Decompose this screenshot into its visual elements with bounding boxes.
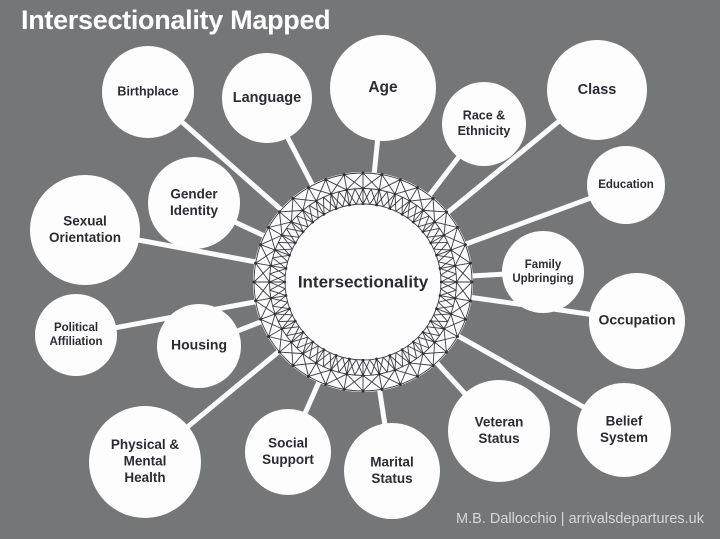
spoke-gender-identity [234, 222, 265, 237]
node-label-occupation: Occupation [598, 312, 675, 328]
node-housing[interactable]: Housing [157, 304, 241, 388]
node-education[interactable]: Education [587, 146, 665, 224]
attribution-footer: M.B. Dallocchio | arrivalsdepartures.uk [456, 511, 704, 527]
node-label-language: Language [233, 90, 301, 106]
node-label-belief-system: Belief [606, 413, 643, 428]
node-label-physical-mental-health: Mental [124, 454, 167, 469]
hub-layer: Intersectionality [253, 172, 474, 393]
node-circle-political-affiliation[interactable] [35, 294, 117, 376]
node-label-family-upbringing: Upbringing [512, 273, 573, 285]
node-label-class: Class [578, 82, 617, 98]
node-label-birthplace: Birthplace [117, 84, 178, 98]
node-political-affiliation[interactable]: PoliticalAffiliation [35, 294, 117, 376]
node-race-ethnicity[interactable]: Race &Ethnicity [442, 82, 526, 166]
node-label-social-support: Support [262, 452, 314, 467]
node-label-veteran-status: Status [478, 431, 519, 446]
node-label-belief-system: System [600, 430, 648, 445]
node-sexual-orientation[interactable]: SexualOrientation [30, 175, 140, 285]
node-label-political-affiliation: Affiliation [49, 336, 102, 348]
spoke-housing [236, 321, 262, 331]
node-label-veteran-status: Veteran [475, 414, 524, 429]
spoke-language [287, 136, 313, 186]
node-age[interactable]: Age [330, 35, 436, 141]
node-label-marital-status: Marital [370, 454, 414, 469]
node-label-race-ethnicity: Ethnicity [458, 124, 511, 138]
node-label-family-upbringing: Family [525, 259, 562, 271]
node-physical-mental-health[interactable]: Physical &MentalHealth [89, 406, 201, 518]
hub-label: Intersectionality [298, 272, 429, 291]
spoke-race-ethnicity [429, 156, 460, 196]
node-label-race-ethnicity: Race & [463, 109, 505, 123]
spoke-age [374, 139, 378, 175]
page-title: Intersectionality Mapped [21, 5, 330, 36]
node-label-sexual-orientation: Sexual [63, 213, 107, 228]
node-family-upbringing[interactable]: FamilyUpbringing [502, 231, 584, 313]
node-social-support[interactable]: SocialSupport [245, 409, 331, 495]
node-belief-system[interactable]: BeliefSystem [577, 383, 671, 477]
node-occupation[interactable]: Occupation [589, 273, 685, 369]
node-gender-identity[interactable]: GenderIdentity [148, 157, 240, 249]
node-label-social-support: Social [268, 435, 308, 450]
node-label-gender-identity: Identity [170, 203, 218, 218]
node-language[interactable]: Language [222, 53, 312, 143]
node-circle-family-upbringing[interactable] [502, 231, 584, 313]
node-veteran-status[interactable]: VeteranStatus [448, 380, 550, 482]
node-label-sexual-orientation: Orientation [49, 230, 121, 245]
node-label-physical-mental-health: Physical & [111, 437, 180, 452]
spoke-marital-status [379, 389, 385, 426]
node-label-gender-identity: Gender [170, 186, 218, 201]
node-birthplace[interactable]: Birthplace [102, 46, 194, 138]
node-label-political-affiliation: Political [54, 322, 98, 334]
node-label-education: Education [598, 179, 654, 191]
spoke-veteran-status [436, 362, 466, 395]
node-label-age: Age [368, 79, 398, 96]
node-label-housing: Housing [171, 337, 227, 353]
node-label-marital-status: Status [371, 471, 412, 486]
spoke-family-upbringing [471, 274, 504, 276]
spoke-social-support [305, 381, 320, 415]
diagram-canvas: Intersectionality Mapped Intersectionali… [0, 0, 720, 539]
node-marital-status[interactable]: MaritalStatus [344, 423, 440, 519]
node-label-physical-mental-health: Health [124, 470, 165, 485]
intersectionality-diagram: Intersectionality BirthplaceLanguageAgeR… [0, 0, 720, 539]
node-class[interactable]: Class [547, 40, 647, 140]
